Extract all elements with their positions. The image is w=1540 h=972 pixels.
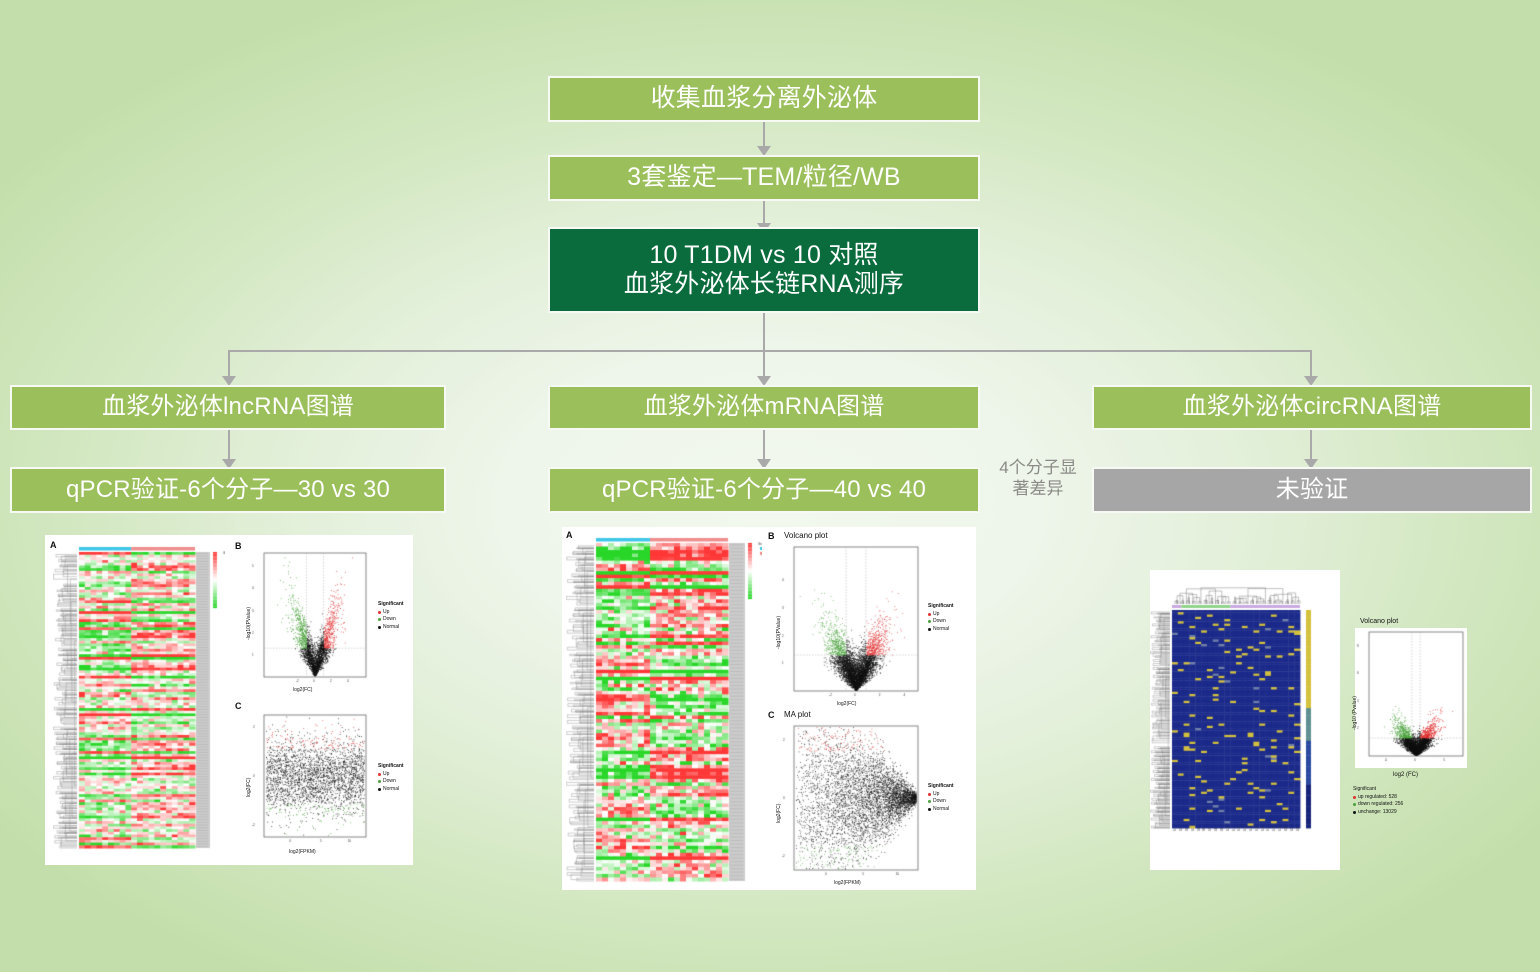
circrna-heatmap-canvas — [1150, 570, 1340, 870]
circrna-volcano-ylabel: -log10 (Pvalue) — [1352, 696, 1358, 730]
legend-item-down: Down — [378, 616, 404, 624]
lncrna-ma-ylabel: log2(FC) — [246, 778, 252, 797]
legend-label-up: Up — [383, 771, 389, 779]
legend-dot-normal — [928, 808, 931, 811]
connector-bus-to-mrna — [763, 350, 765, 378]
legend-item-normal: Normal — [928, 806, 954, 814]
mrna-heatmap-canvas — [566, 531, 762, 886]
circrna-volcano-title: Volcano plot — [1360, 618, 1398, 625]
mrna-panel-a-letter: A — [566, 530, 573, 540]
lncrna-volcano-canvas — [250, 549, 370, 689]
mrna-ma-legend: Significant Up Down Normal — [928, 783, 954, 813]
branch-lncrna-validation[interactable]: qPCR验证-6个分子—30 vs 30 — [10, 467, 446, 513]
figure-mrna[interactable]: A B Volcano plot log2(FC) -log10(PValue)… — [562, 527, 976, 890]
legend-dot-up — [928, 793, 931, 796]
branch-circrna-profile[interactable]: 血浆外泌体circRNA图谱 — [1092, 385, 1532, 430]
mrna-ma-canvas — [780, 722, 922, 882]
lncrna-volcano-ylabel: -log10(PValue) — [246, 607, 252, 640]
figure-circrna[interactable]: Volcano plot log2 (FC) -log10 (Pvalue) S… — [1150, 570, 1532, 875]
legend-label-down: Down — [933, 798, 946, 806]
legend-label-normal: Normal — [933, 626, 949, 634]
mrna-volcano-canvas — [780, 543, 922, 703]
legend-label-unchanged: unchange: 13029 — [1358, 809, 1397, 817]
legend-item-down: Down — [928, 618, 954, 626]
legend-dot-down — [378, 618, 381, 621]
step-identification-methods[interactable]: 3套鉴定—TEM/粒径/WB — [548, 155, 980, 201]
legend-item-up: Up — [378, 771, 404, 779]
lncrna-volcano-xlabel: log2(FC) — [293, 687, 312, 693]
circrna-volcano-legend-title: Significant — [1353, 786, 1403, 794]
legend-label-normal: Normal — [383, 624, 399, 632]
lncrna-panel-c-letter: C — [235, 701, 242, 711]
legend-item-down: Down — [928, 798, 954, 806]
branch-circrna-validation[interactable]: 未验证 — [1092, 467, 1532, 513]
annotation-line2: 著差异 — [988, 479, 1088, 500]
connector-branch-bus — [228, 350, 1311, 352]
mrna-volcano-ylabel: -log10(PValue) — [776, 616, 782, 649]
legend-label-up: Up — [383, 609, 389, 617]
lncrna-panel-b-letter: B — [235, 541, 242, 551]
legend-dot-normal — [928, 628, 931, 631]
legend-label-down: Down — [383, 778, 396, 786]
branch-lncrna-profile[interactable]: 血浆外泌体lncRNA图谱 — [10, 385, 446, 430]
mrna-ma-title: MA plot — [784, 710, 811, 719]
annotation-significant-molecules: 4个分子显 著差异 — [988, 458, 1088, 499]
circrna-volcano-xlabel: log2 (FC) — [1393, 772, 1418, 778]
legend-dot-up — [378, 611, 381, 614]
connector-bus-to-lncrna — [228, 350, 230, 378]
step-collect-exosomes[interactable]: 收集血浆分离外泌体 — [548, 76, 980, 122]
legend-item-normal: Normal — [928, 626, 954, 634]
step-rna-sequencing-line2: 血浆外泌体长链RNA测序 — [624, 270, 904, 300]
lncrna-ma-xlabel: log2(FPKM) — [289, 849, 316, 855]
legend-item-normal: Normal — [378, 786, 404, 794]
legend-dot-normal — [378, 788, 381, 791]
lncrna-volcano-legend-title: Significant — [378, 601, 404, 609]
figure-lncrna[interactable]: A B log2(FC) -log10(PValue) Significant … — [45, 535, 413, 865]
connector-seq-stem — [763, 312, 765, 352]
legend-label-down: down regulated: 256 — [1358, 801, 1403, 809]
circrna-volcano-legend: Significant up regulated: 528 down regul… — [1353, 786, 1403, 816]
lncrna-heatmap-canvas — [53, 540, 225, 860]
legend-item-up: Up — [378, 609, 404, 617]
legend-label-normal: Normal — [383, 786, 399, 794]
legend-dot-down — [1353, 803, 1356, 806]
mrna-volcano-legend: Significant Up Down Normal — [928, 603, 954, 633]
lncrna-panel-a-letter: A — [50, 540, 57, 550]
legend-dot-unchanged — [1353, 811, 1356, 814]
step-rna-sequencing[interactable]: 10 T1DM vs 10 对照 血浆外泌体长链RNA测序 — [548, 227, 980, 313]
mrna-ma-xlabel: log2(FPKM) — [834, 880, 861, 886]
workflow-diagram: 收集血浆分离外泌体 3套鉴定—TEM/粒径/WB 10 T1DM vs 10 对… — [0, 0, 1540, 972]
connector-lncrna-profile-to-qpcr — [228, 429, 230, 461]
lncrna-volcano-legend: Significant Up Down Normal — [378, 601, 404, 631]
mrna-volcano-title: Volcano plot — [784, 531, 828, 540]
legend-label-up: up regulated: 528 — [1358, 794, 1397, 802]
annotation-line1: 4个分子显 — [988, 458, 1088, 479]
legend-label-down: Down — [383, 616, 396, 624]
legend-label-down: Down — [933, 618, 946, 626]
connector-collect-to-identify — [763, 120, 765, 148]
connector-mrna-profile-to-qpcr — [763, 429, 765, 461]
mrna-ma-legend-title: Significant — [928, 783, 954, 791]
mrna-volcano-xlabel: log2(FC) — [837, 701, 856, 707]
legend-dot-down — [928, 800, 931, 803]
connector-circrna-profile-to-unvalidated — [1310, 429, 1312, 461]
mrna-ma-ylabel: log2(FC) — [776, 804, 782, 823]
branch-mrna-validation[interactable]: qPCR验证-6个分子—40 vs 40 — [548, 467, 980, 513]
mrna-volcano-legend-title: Significant — [928, 603, 954, 611]
legend-item-normal: Normal — [378, 624, 404, 632]
lncrna-ma-canvas — [250, 711, 370, 849]
mrna-panel-c-letter: C — [768, 710, 775, 720]
branch-mrna-profile[interactable]: 血浆外泌体mRNA图谱 — [548, 385, 980, 430]
circrna-volcano-canvas — [1355, 628, 1467, 768]
step-rna-sequencing-line1: 10 T1DM vs 10 对照 — [649, 241, 878, 271]
legend-label-up: Up — [933, 791, 939, 799]
legend-dot-normal — [378, 626, 381, 629]
legend-dot-down — [928, 620, 931, 623]
lncrna-ma-legend-title: Significant — [378, 763, 404, 771]
mrna-panel-b-letter: B — [768, 531, 775, 541]
connector-bus-to-circrna — [1310, 350, 1312, 378]
connector-identify-to-seq — [763, 199, 765, 225]
legend-item-unchanged: unchange: 13029 — [1353, 809, 1403, 817]
legend-dot-up — [1353, 796, 1356, 799]
legend-item-down-regulated: down regulated: 256 — [1353, 801, 1403, 809]
legend-item-up-regulated: up regulated: 528 — [1353, 794, 1403, 802]
legend-item-up: Up — [928, 791, 954, 799]
legend-label-up: Up — [933, 611, 939, 619]
legend-item-up: Up — [928, 611, 954, 619]
legend-item-down: Down — [378, 778, 404, 786]
legend-dot-down — [378, 780, 381, 783]
legend-dot-up — [378, 773, 381, 776]
legend-label-normal: Normal — [933, 806, 949, 814]
lncrna-ma-legend: Significant Up Down Normal — [378, 763, 404, 793]
legend-dot-up — [928, 613, 931, 616]
